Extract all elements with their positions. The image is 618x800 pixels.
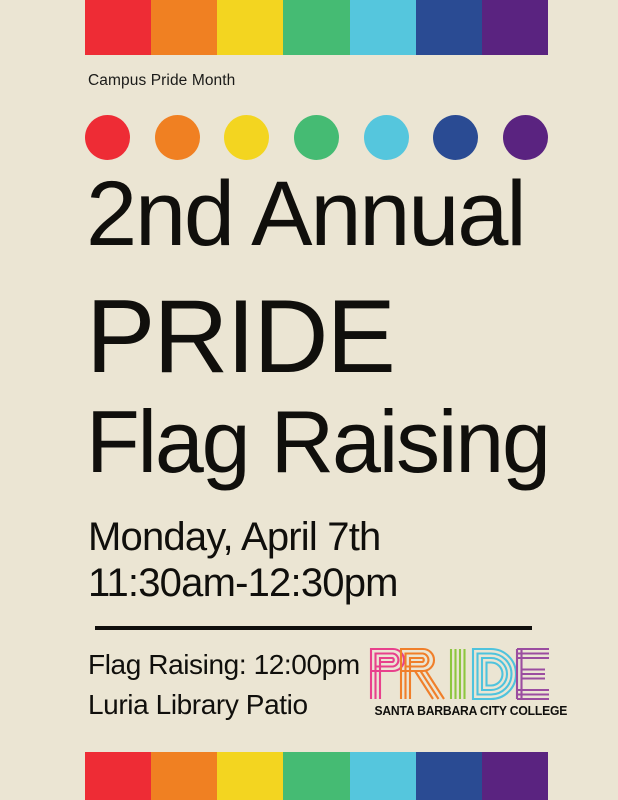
bottom-rainbow-band: [85, 752, 548, 800]
rainbow-swatch-green: [283, 0, 349, 55]
pride-poster: Campus Pride Month 2nd Annual PRIDE Flag…: [0, 0, 618, 800]
rainbow-swatch-light-blue: [350, 0, 416, 55]
detail-flag-raising-time: Flag Raising: 12:00pm: [88, 645, 360, 685]
rainbow-dot-red: [85, 115, 130, 160]
event-time: 11:30am-12:30pm: [88, 560, 398, 606]
logo-tagline: SANTA BARBARA CITY COLLEGE: [374, 703, 545, 718]
sbcc-pride-logo: SANTA BARBARA CITY COLLEGE: [367, 645, 553, 723]
rainbow-swatch-orange-bottom: [151, 752, 217, 800]
headline-pride: PRIDE: [86, 290, 394, 386]
pride-wordmark-icon: [367, 645, 553, 703]
rainbow-swatch-blue-bottom: [416, 752, 482, 800]
rainbow-dot-green: [294, 115, 339, 160]
rainbow-swatch-red: [85, 0, 151, 55]
rainbow-dot-yellow: [224, 115, 269, 160]
rainbow-swatch-green-bottom: [283, 752, 349, 800]
rainbow-dot-blue: [433, 115, 478, 160]
event-details: Flag Raising: 12:00pm Luria Library Pati…: [88, 645, 360, 725]
top-rainbow-band: [85, 0, 548, 55]
rainbow-dot-light-blue: [364, 115, 409, 160]
rainbow-swatch-yellow: [217, 0, 283, 55]
rainbow-dot-orange: [155, 115, 200, 160]
detail-location: Luria Library Patio: [88, 685, 360, 725]
rainbow-swatch-purple: [482, 0, 548, 55]
eyebrow-text: Campus Pride Month: [88, 72, 235, 90]
event-datetime: Monday, April 7th 11:30am-12:30pm: [88, 514, 398, 607]
rainbow-swatch-light-blue-bottom: [350, 752, 416, 800]
headline-annual: 2nd Annual: [86, 172, 524, 257]
rainbow-swatch-blue: [416, 0, 482, 55]
rainbow-swatch-purple-bottom: [482, 752, 548, 800]
horizontal-divider: [95, 626, 532, 630]
rainbow-dot-purple: [503, 115, 548, 160]
headline-flag-raising: Flag Raising: [86, 400, 549, 484]
rainbow-swatch-orange: [151, 0, 217, 55]
rainbow-swatch-yellow-bottom: [217, 752, 283, 800]
event-date: Monday, April 7th: [88, 514, 398, 560]
rainbow-swatch-red-bottom: [85, 752, 151, 800]
rainbow-dot-row: [85, 113, 548, 161]
